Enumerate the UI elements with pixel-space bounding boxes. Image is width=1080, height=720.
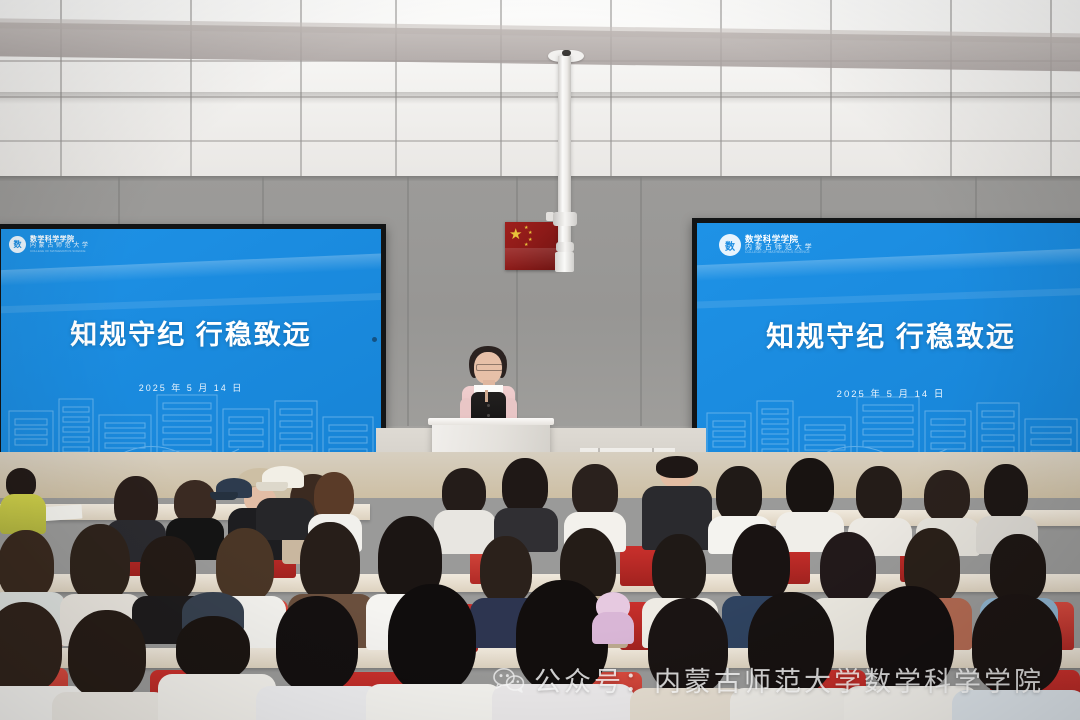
projector-collar (556, 242, 574, 252)
attendee (962, 594, 1072, 720)
flag-small-star: ★ (528, 238, 532, 243)
attendee (378, 584, 486, 720)
attendee (62, 610, 158, 720)
flag-small-star: ★ (528, 231, 532, 236)
campus-skyline-artwork (1, 389, 381, 461)
attendee (740, 592, 844, 720)
campus-skyline-artwork (697, 389, 1080, 461)
ceiling (0, 0, 1080, 182)
projector-pole (558, 56, 571, 258)
wechat-watermark: 公众号：内蒙古师范大学数学科学学院 (493, 660, 1044, 699)
attendee (2, 466, 46, 530)
attendee (168, 592, 264, 720)
college-emblem-icon: 数 (719, 234, 741, 256)
attendee (640, 598, 736, 720)
slide-title: 知规守纪 行稳致远 (1, 313, 381, 352)
attendee (856, 586, 964, 720)
college-emblem-icon: 数 (9, 236, 26, 253)
lectern-top (428, 418, 554, 425)
chinese-national-flag: ★ ★ ★ ★ ★ (505, 222, 560, 270)
attendee (438, 468, 492, 546)
attendee (498, 458, 554, 546)
logo-english-name: COLLEGE OF MATHEMATICS SCIENCE (30, 250, 89, 253)
eyeglasses-icon (476, 364, 503, 371)
slide-left: 数 数学科学学院 内 蒙 古 师 范 大 学 COLLEGE OF MATHEM… (1, 229, 381, 461)
projector-head (555, 252, 574, 272)
slide-logo: 数 数学科学学院 内 蒙 古 师 范 大 学 COLLEGE OF MATHEM… (719, 234, 812, 256)
attendee (268, 596, 368, 720)
cap-brim (256, 482, 288, 491)
wechat-icon (493, 667, 525, 693)
watermark-text: 公众号：内蒙古师范大学数学科学学院 (534, 660, 1044, 699)
logo-college-name: 数学科学学院 (745, 235, 812, 244)
slide-title: 知规守纪 行稳致远 (697, 315, 1080, 355)
projector-collar (553, 212, 577, 226)
flag-big-star: ★ (509, 227, 522, 242)
microphone-icon (485, 390, 488, 402)
presenter-at-podium (452, 346, 530, 426)
projection-screen-left[interactable]: 数 数学科学学院 内 蒙 古 师 范 大 学 COLLEGE OF MATHEM… (0, 224, 386, 466)
slide-right: 数 数学科学学院 内 蒙 古 师 范 大 学 COLLEGE OF MATHEM… (697, 223, 1080, 461)
projection-screen-right[interactable]: 数 数学科学学院 内 蒙 古 师 范 大 学 COLLEGE OF MATHEM… (692, 218, 1080, 466)
slide-logo: 数 数学科学学院 内 蒙 古 师 范 大 学 COLLEGE OF MATHEM… (9, 236, 89, 253)
plush-bag-accessory (592, 592, 636, 644)
logo-english-name: COLLEGE OF MATHEMATICS SCIENCE (745, 251, 812, 255)
cap-brim (210, 492, 238, 500)
attendee (214, 478, 258, 530)
lecture-hall-photo: ★ ★ ★ ★ ★ 数 数学科学学院 内 蒙 古 师 范 大 学 COLLEGE… (0, 0, 1080, 720)
screen-sensor-dot (372, 337, 377, 342)
